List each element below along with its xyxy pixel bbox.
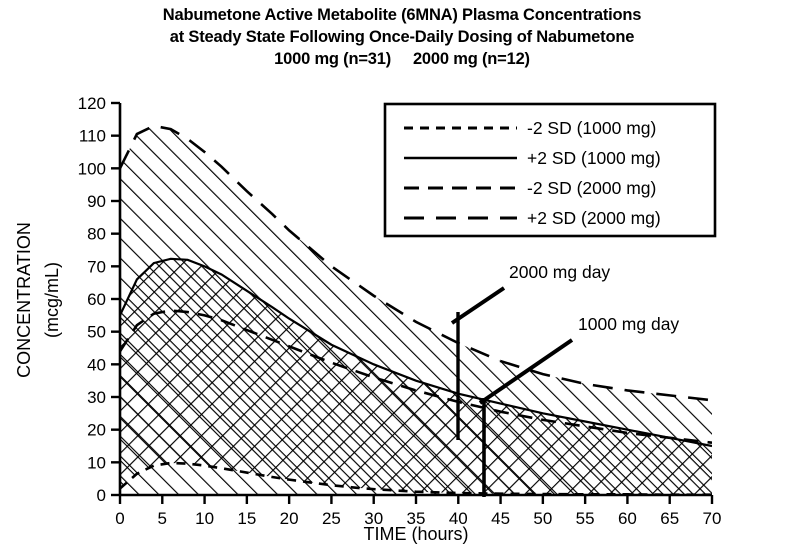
x-tick-label: 0 xyxy=(115,509,124,528)
annotation-1000mg-day: 1000 mg day xyxy=(578,314,679,334)
annotation-2000mg-day: 2000 mg day xyxy=(509,262,610,282)
y-tick-label: 40 xyxy=(87,355,106,374)
y-tick-label: 20 xyxy=(87,421,106,440)
x-tick-label: 45 xyxy=(491,509,510,528)
y-axis-title-line2: (mcg/mL) xyxy=(42,262,62,338)
y-axis-ticks xyxy=(111,103,120,495)
x-tick-label: 60 xyxy=(618,509,637,528)
x-tick-label: 15 xyxy=(237,509,256,528)
x-tick-label: 50 xyxy=(533,509,552,528)
x-tick-label: 65 xyxy=(660,509,679,528)
y-tick-label: 30 xyxy=(87,388,106,407)
y-tick-label: 0 xyxy=(97,486,106,505)
x-axis-ticks xyxy=(120,495,712,504)
x-tick-label: 20 xyxy=(280,509,299,528)
concentration-time-chart: 0102030405060708090100110120 05101520253… xyxy=(0,0,804,557)
y-tick-label: 120 xyxy=(78,94,106,113)
y-tick-label: 100 xyxy=(78,159,106,178)
y-tick-label: 10 xyxy=(87,453,106,472)
figure-root: Nabumetone Active Metabolite (6MNA) Plas… xyxy=(0,0,804,557)
legend-label-2: -2 SD (2000 mg) xyxy=(527,178,656,198)
legend-label-0: -2 SD (1000 mg) xyxy=(527,118,656,138)
y-tick-label: 80 xyxy=(87,225,106,244)
legend-label-1: +2 SD (1000 mg) xyxy=(527,148,661,168)
x-tick-label: 55 xyxy=(576,509,595,528)
y-tick-label: 50 xyxy=(87,323,106,342)
y-tick-label: 90 xyxy=(87,192,106,211)
x-tick-label: 10 xyxy=(195,509,214,528)
y-axis-title-line1: CONCENTRATION xyxy=(14,222,34,378)
x-tick-label: 5 xyxy=(158,509,167,528)
x-tick-label: 70 xyxy=(703,509,722,528)
y-tick-label: 110 xyxy=(79,127,106,146)
legend: -2 SD (1000 mg)+2 SD (1000 mg)-2 SD (200… xyxy=(385,104,715,236)
x-axis-title: TIME (hours) xyxy=(363,524,468,544)
legend-label-3: +2 SD (2000 mg) xyxy=(527,208,661,228)
x-tick-label: 25 xyxy=(322,509,341,528)
y-tick-label: 70 xyxy=(87,257,106,276)
y-tick-label: 60 xyxy=(87,290,106,309)
y-axis-tick-labels: 0102030405060708090100110120 xyxy=(78,94,106,505)
